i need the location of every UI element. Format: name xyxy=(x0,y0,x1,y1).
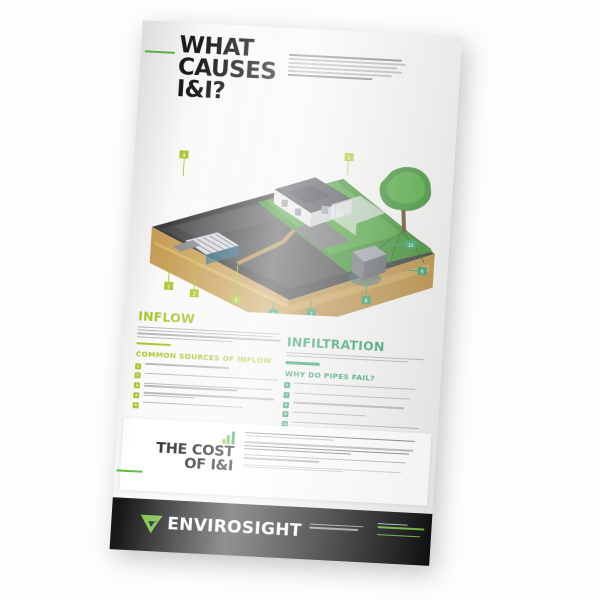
infiltration-bullet-badge: 7 xyxy=(283,392,289,398)
poster-footer: ENVIROSIGHT 111 Canfield Ave. Randolph, … xyxy=(110,497,433,566)
infiltration-bullet-badge: 9 xyxy=(282,411,288,417)
cost-title-line-2: OF I&I xyxy=(147,456,234,474)
brand-name: ENVIROSIGHT xyxy=(167,514,303,541)
infiltration-section: INFILTRATION Infiltration is groundwater… xyxy=(281,334,429,438)
isometric-illustration: Isometric cutaway of a residential stree… xyxy=(124,124,456,330)
svg-text:9: 9 xyxy=(420,269,424,275)
svg-text:3: 3 xyxy=(234,298,238,304)
infographic-poster: WHAT CAUSES I&I? Inflow and infiltration… xyxy=(110,20,463,566)
inflow-bullet-badge: 4 xyxy=(133,392,139,398)
footer-contact: 866.650.1700 info@envirosight.com www.en… xyxy=(377,523,426,540)
infiltration-bullet-badge: 8 xyxy=(283,402,289,408)
cost-title-block: THE COST OF I&I xyxy=(147,427,236,474)
infiltration-bullet-badge: 6 xyxy=(284,382,290,388)
poster-page: WHAT CAUSES I&I? Inflow and infiltration… xyxy=(110,20,463,566)
cost-panel: THE COST OF I&I A single leak can genera… xyxy=(119,418,431,506)
street-cutaway-svg: 1 2 3 4 5 xyxy=(139,135,445,322)
footer-address: 111 Canfield Ave. Randolph, NJ 07869 xyxy=(309,524,365,533)
info-band: INFLOW Inflow is clean water that enters… xyxy=(118,308,444,435)
infiltration-divider xyxy=(286,362,320,366)
inflow-bullet-badge: 1 xyxy=(135,363,141,369)
svg-text:8: 8 xyxy=(364,299,368,305)
svg-text:10: 10 xyxy=(408,243,414,249)
inflow-bullet-badge: 3 xyxy=(134,382,140,388)
illustration-caption: Isometric cutaway of a residential stree… xyxy=(136,124,137,125)
inflow-bullet-badge: 5 xyxy=(133,402,139,408)
svg-text:4: 4 xyxy=(182,153,186,159)
inflow-divider xyxy=(136,342,170,346)
inflow-section: INFLOW Inflow is clean water that enters… xyxy=(132,308,283,418)
inflow-bullet-badge: 2 xyxy=(134,373,140,379)
svg-text:1: 1 xyxy=(167,284,171,290)
header-accent-rule xyxy=(145,50,175,54)
cost-accent-rule xyxy=(116,469,142,472)
svg-text:2: 2 xyxy=(192,292,196,298)
screenshot-canvas: WHAT CAUSES I&I? Inflow and infiltration… xyxy=(0,0,600,600)
envirosight-logo-icon xyxy=(139,513,164,536)
cost-body: A single leak can generate over 1.5 mill… xyxy=(243,432,417,478)
svg-text:5: 5 xyxy=(347,155,351,161)
